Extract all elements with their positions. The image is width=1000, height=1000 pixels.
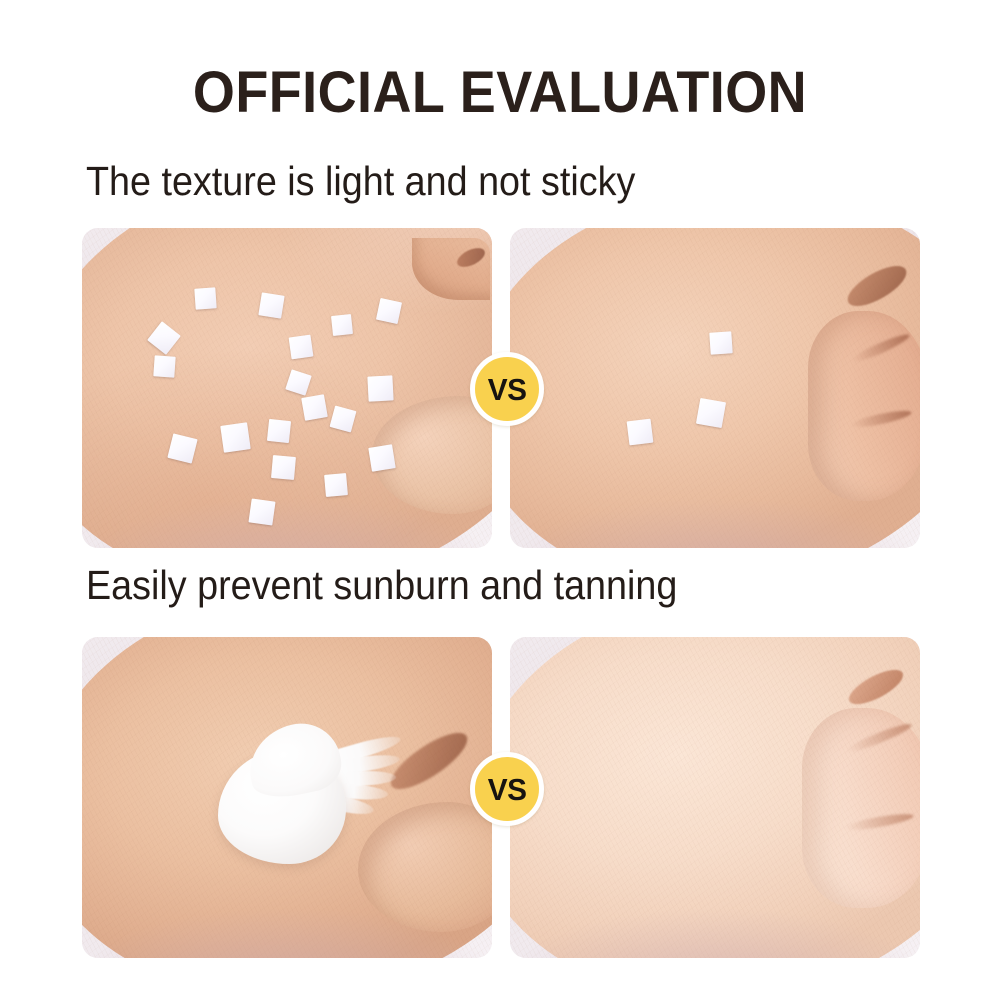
photo-panel-cream-swatch[interactable] (82, 637, 492, 958)
powder-flake (289, 335, 314, 360)
powder-flake (258, 292, 284, 318)
powder-flake (367, 375, 393, 401)
photo-panel-few-flakes[interactable] (510, 228, 920, 548)
folded-fingers (802, 708, 920, 908)
powder-flake (709, 331, 732, 354)
vs-badge-label: VS (488, 774, 527, 805)
vs-badge-texture: VS (470, 352, 544, 426)
vs-badge-sunburn: VS (470, 752, 544, 826)
powder-flake (220, 422, 250, 452)
powder-flake (153, 355, 175, 377)
powder-flake (376, 298, 402, 324)
powder-flake (248, 498, 275, 525)
photo-panel-many-flakes[interactable] (82, 228, 492, 548)
powder-flake (627, 419, 654, 446)
section-caption-sunburn: Easily prevent sunburn and tanning (86, 562, 677, 608)
vs-badge-label: VS (488, 374, 527, 405)
powder-flake (331, 314, 353, 336)
powder-flake (696, 398, 726, 428)
powder-flake (301, 394, 328, 421)
powder-flake (271, 455, 296, 480)
page-title: OFFICIAL EVALUATION (35, 62, 965, 124)
photo-panel-fair-skin[interactable] (510, 637, 920, 958)
powder-flake (267, 419, 291, 443)
section-caption-texture: The texture is light and not sticky (86, 158, 635, 204)
powder-flake (324, 473, 348, 497)
powder-flake (368, 444, 395, 471)
powder-flake (194, 287, 216, 309)
